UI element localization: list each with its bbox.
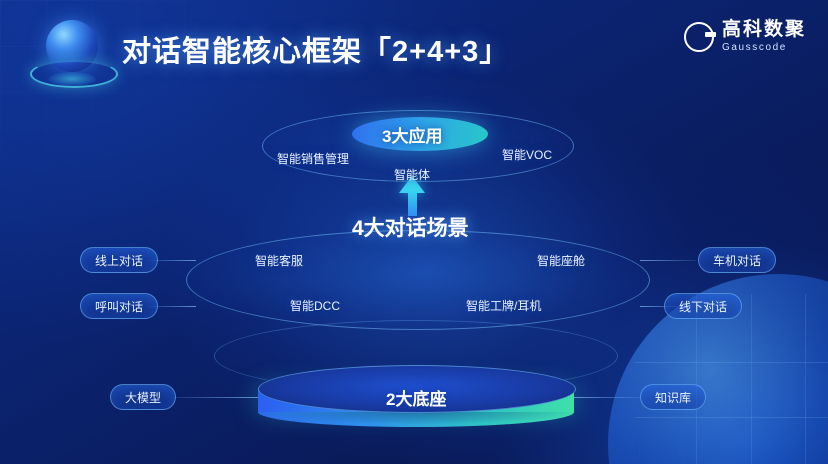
brand-logo: 高科数聚 Gausscode — [684, 20, 806, 53]
connector-right-carmachine — [640, 260, 696, 261]
tag-large-model[interactable]: 大模型 — [110, 384, 176, 410]
scenario-item-badge: 智能工牌/耳机 — [466, 297, 541, 314]
slide-canvas: 对话智能核心框架「2+4+3」 高科数聚 Gausscode 3大应用 4大对话… — [0, 0, 828, 464]
gausscode-logo-icon — [684, 22, 714, 52]
application-item-voc: 智能VOC — [502, 146, 552, 163]
sphere-orb-icon — [26, 16, 118, 94]
connector-left-model — [172, 397, 258, 398]
slide-header: 对话智能核心框架「2+4+3」 高科数聚 Gausscode — [0, 0, 828, 96]
connector-right-knowledge — [574, 397, 640, 398]
application-item-agent: 智能体 — [394, 166, 430, 183]
scenarios-ring — [186, 230, 650, 330]
brand-name-en: Gausscode — [722, 43, 806, 54]
tag-online-dialogue[interactable]: 线上对话 — [80, 247, 158, 273]
scenario-item-cockpit: 智能座舱 — [537, 252, 585, 269]
foundation-title: 2大底座 — [386, 385, 446, 410]
scenario-item-service: 智能客服 — [255, 252, 303, 269]
tag-offline-dialogue[interactable]: 线下对话 — [664, 293, 742, 319]
tag-carmachine-dialogue[interactable]: 车机对话 — [698, 247, 776, 273]
tag-knowledge-base[interactable]: 知识库 — [640, 384, 706, 410]
page-title: 对话智能核心框架「2+4+3」 — [122, 28, 509, 70]
application-item-sales: 智能销售管理 — [277, 150, 349, 167]
scenarios-title: 4大对话场景 — [352, 212, 469, 242]
applications-title: 3大应用 — [382, 122, 442, 147]
brand-name-cn: 高科数聚 — [722, 20, 806, 40]
scenario-item-dcc: 智能DCC — [290, 297, 340, 314]
tag-call-dialogue[interactable]: 呼叫对话 — [80, 293, 158, 319]
